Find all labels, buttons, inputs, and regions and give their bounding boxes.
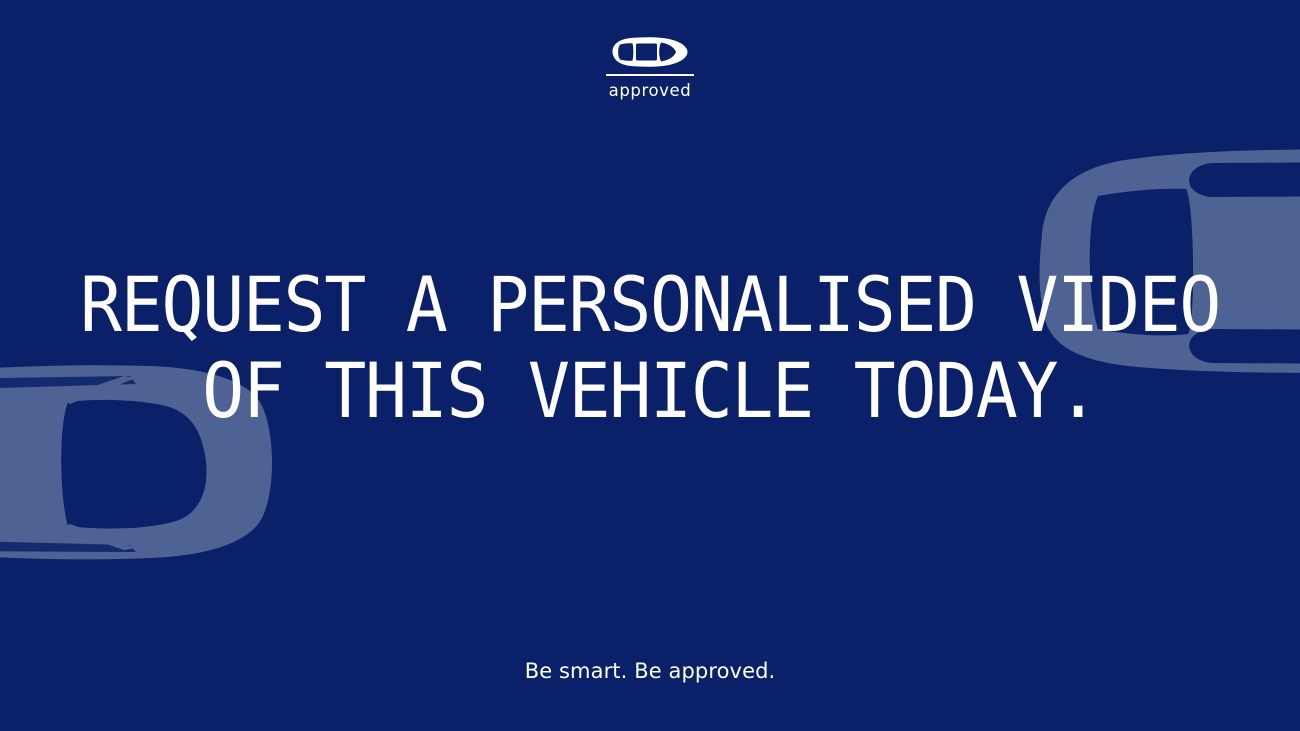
- page-title: REQUEST A PERSONALISED VIDEO OF THIS VEH…: [0, 262, 1300, 434]
- logo-divider-rule: [606, 74, 694, 76]
- headline-line-1: REQUEST A PERSONALISED VIDEO: [52, 262, 1248, 348]
- promo-banner: approved REQUEST A PERSONALISED VIDEO OF…: [0, 0, 1300, 731]
- logo-wordmark: approved: [609, 83, 692, 100]
- brand-logo: approved: [560, 36, 740, 99]
- headline-line-2: OF THIS VEHICLE TODAY.: [52, 348, 1248, 434]
- car-top-view-icon: [611, 36, 689, 68]
- tagline: Be smart. Be approved.: [0, 659, 1300, 683]
